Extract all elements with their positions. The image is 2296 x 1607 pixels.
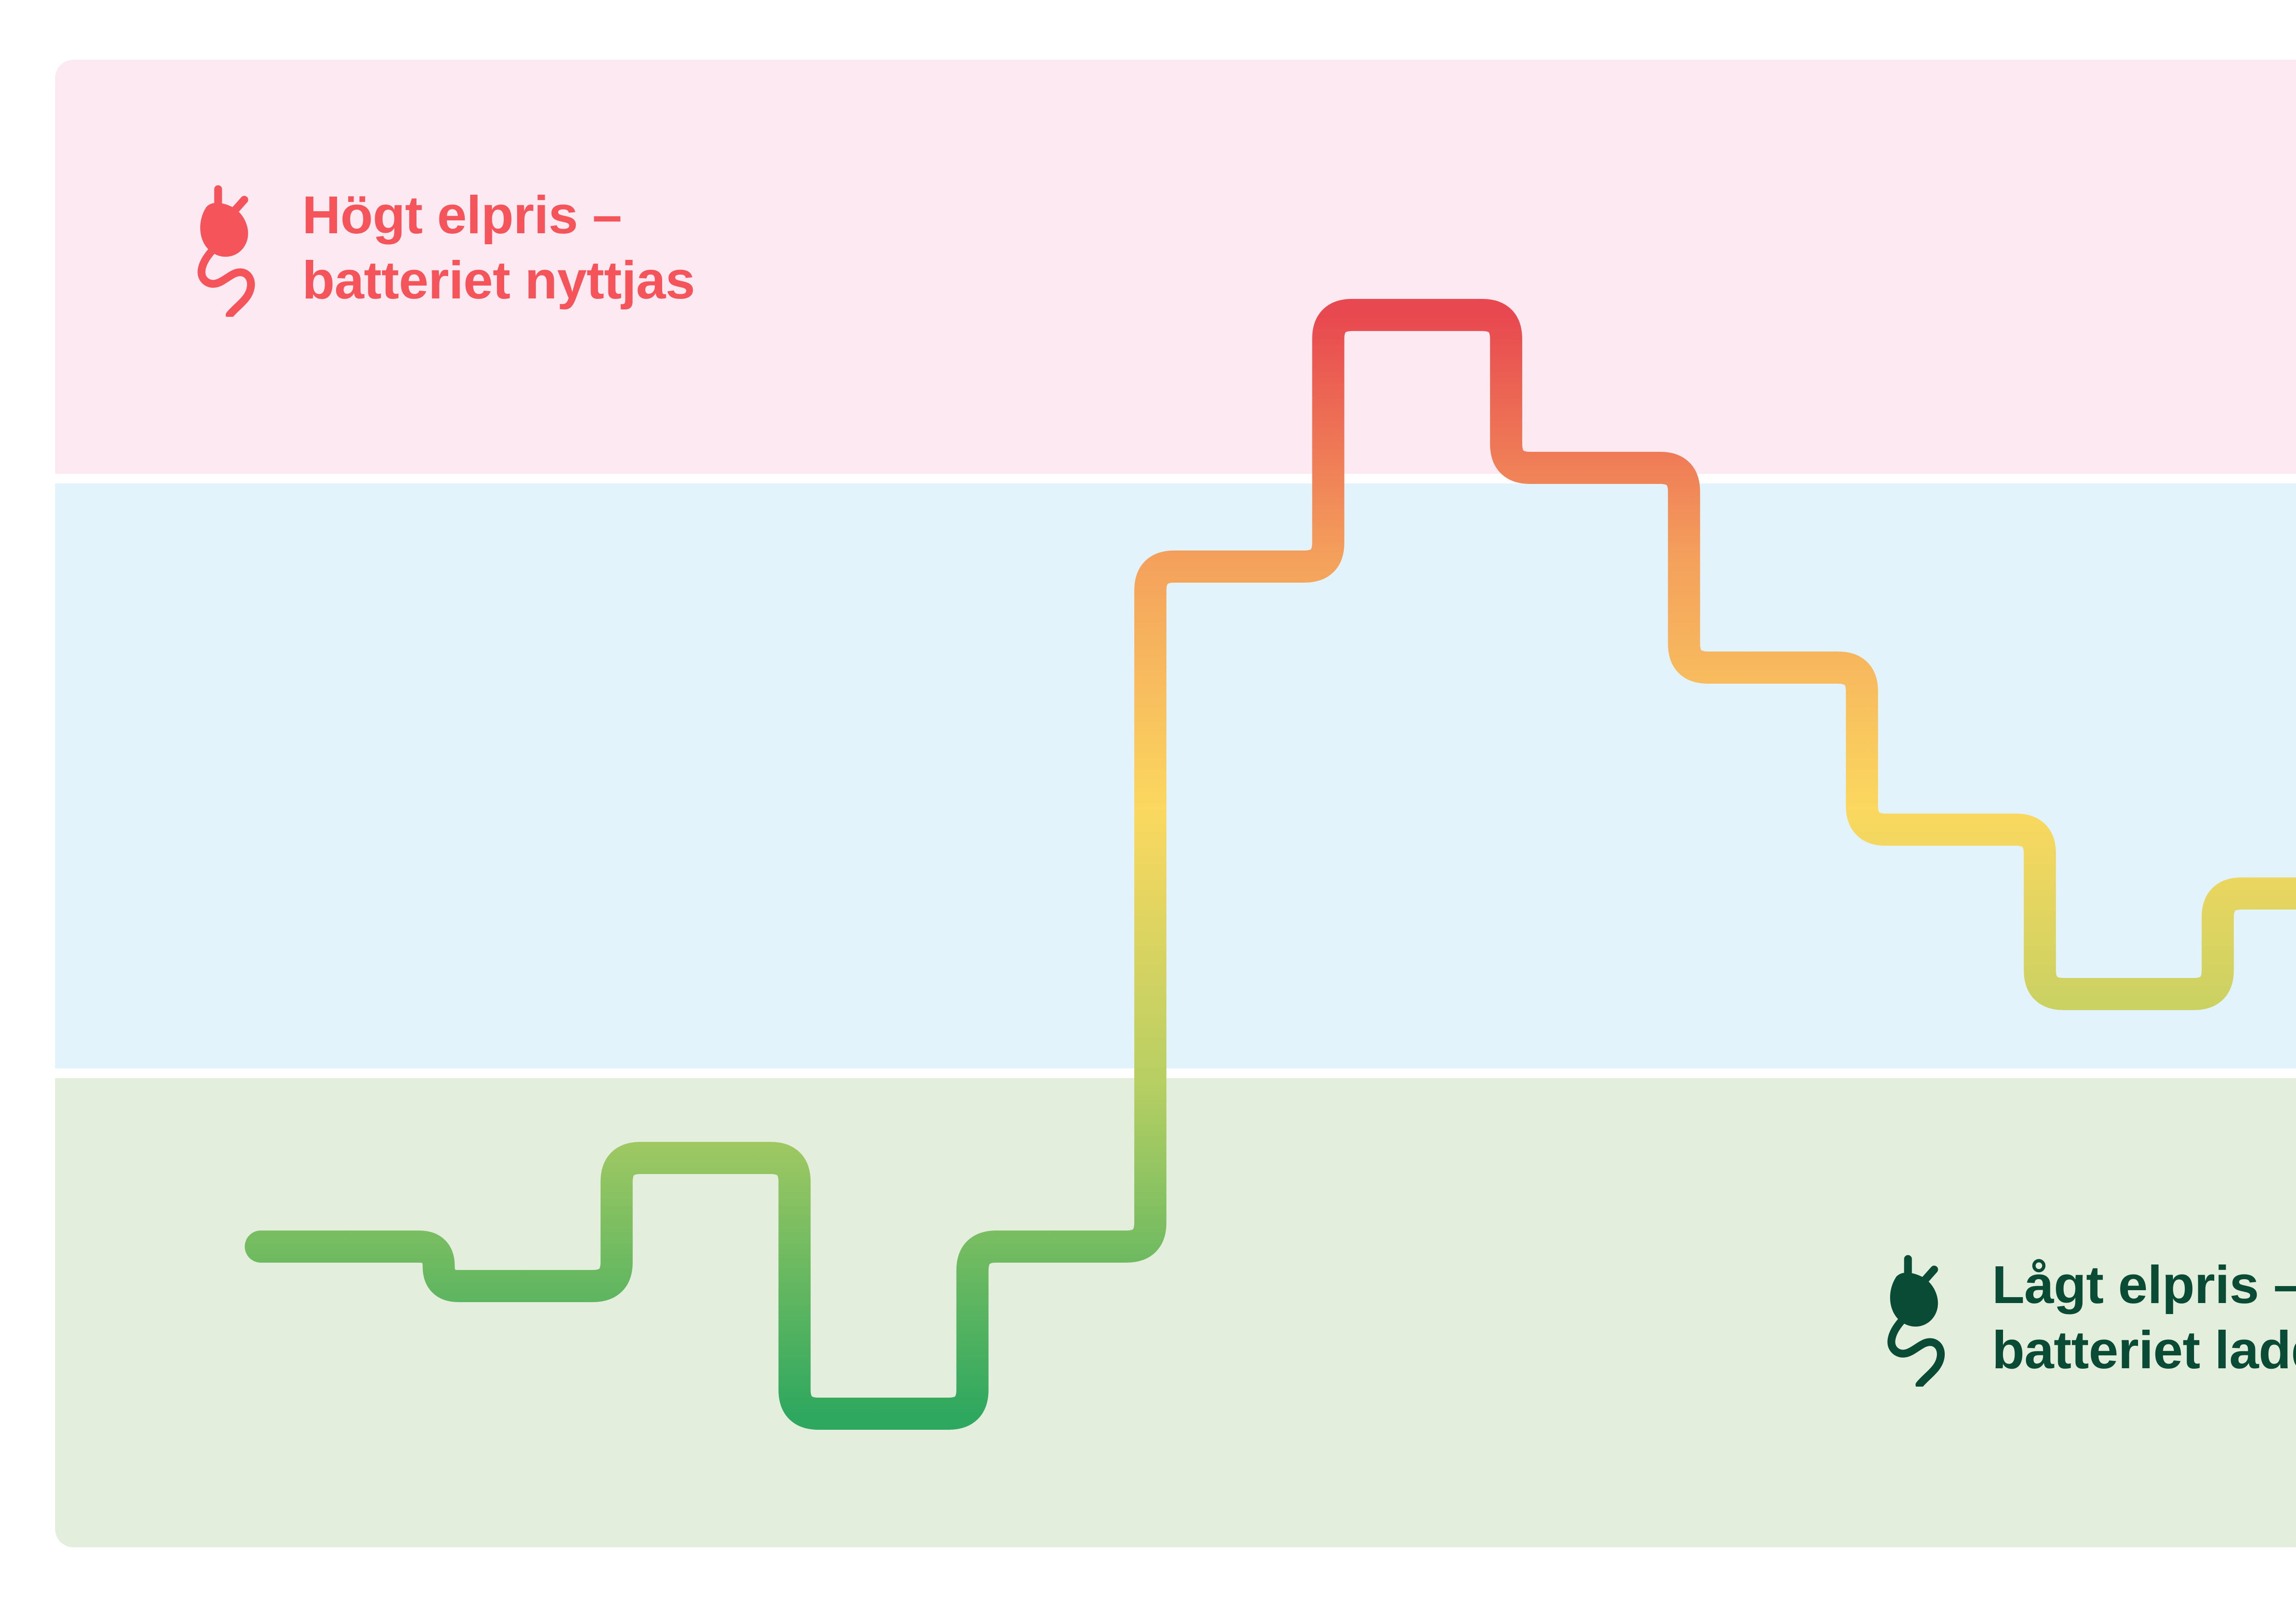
legend-high-price: Högt elpris – batteriet nyttjas [193, 179, 695, 317]
legend-low-price-text: Lågt elpris – batteriet laddas [1992, 1253, 2296, 1382]
legend-high-price-text: Högt elpris – batteriet nyttjas [302, 183, 695, 313]
infographic-root: Högt elpris – batteriet nyttjas Lågt elp… [0, 0, 2296, 1607]
plug-icon [193, 179, 280, 317]
plug-icon [1883, 1249, 1970, 1387]
legend-low-price: Lågt elpris – batteriet laddas [1883, 1249, 2296, 1387]
